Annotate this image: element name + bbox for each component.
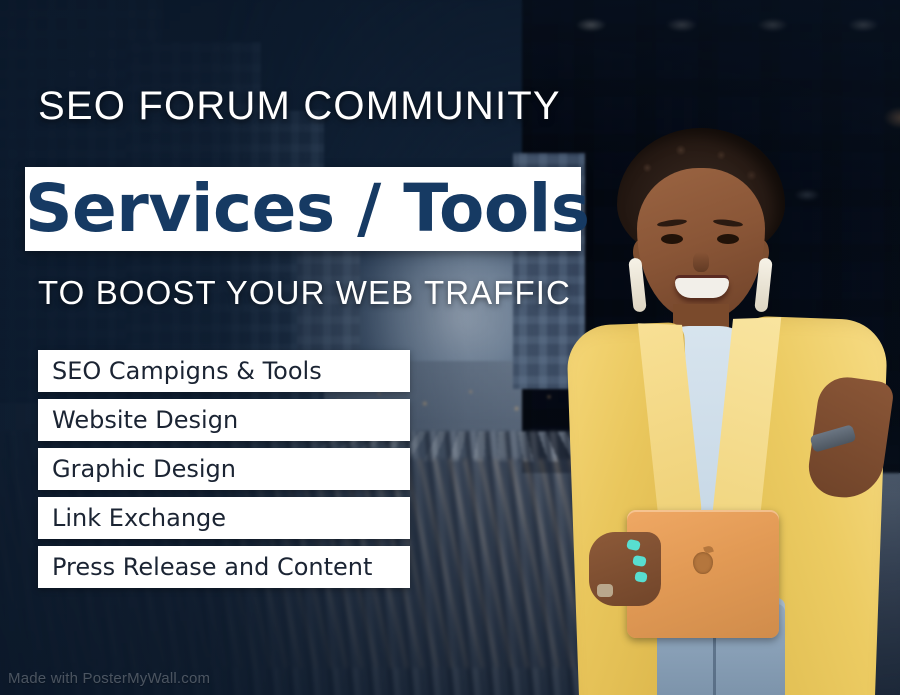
apple-logo-icon bbox=[693, 552, 713, 574]
service-item[interactable]: SEO Campigns & Tools bbox=[38, 350, 410, 392]
ring bbox=[597, 584, 613, 597]
headline-band: Services / Tools bbox=[25, 167, 581, 251]
person-photo bbox=[545, 128, 900, 695]
service-item[interactable]: Press Release and Content bbox=[38, 546, 410, 588]
fingernail bbox=[634, 571, 647, 583]
service-item-label: Graphic Design bbox=[52, 457, 236, 481]
eye-right bbox=[717, 234, 739, 244]
subline-text: TO BOOST YOUR WEB TRAFFIC bbox=[38, 276, 571, 309]
service-item-label: Website Design bbox=[52, 408, 238, 432]
eye-left bbox=[661, 234, 683, 244]
service-item-label: Press Release and Content bbox=[52, 555, 372, 579]
poster-canvas: SEO FORUM COMMUNITY Services / Tools TO … bbox=[0, 0, 900, 695]
service-item[interactable]: Link Exchange bbox=[38, 497, 410, 539]
service-item[interactable]: Graphic Design bbox=[38, 448, 410, 490]
service-item-label: SEO Campigns & Tools bbox=[52, 359, 322, 383]
nose bbox=[693, 252, 709, 272]
service-item-label: Link Exchange bbox=[52, 506, 226, 530]
services-list: SEO Campigns & Tools Website Design Grap… bbox=[38, 350, 410, 595]
service-item[interactable]: Website Design bbox=[38, 399, 410, 441]
watermark-text: Made with PosterMyWall.com bbox=[8, 670, 210, 687]
smile bbox=[675, 278, 729, 298]
kicker-text: SEO FORUM COMMUNITY bbox=[38, 86, 561, 126]
fingernail bbox=[632, 555, 647, 567]
headline-text: Services / Tools bbox=[25, 176, 581, 242]
